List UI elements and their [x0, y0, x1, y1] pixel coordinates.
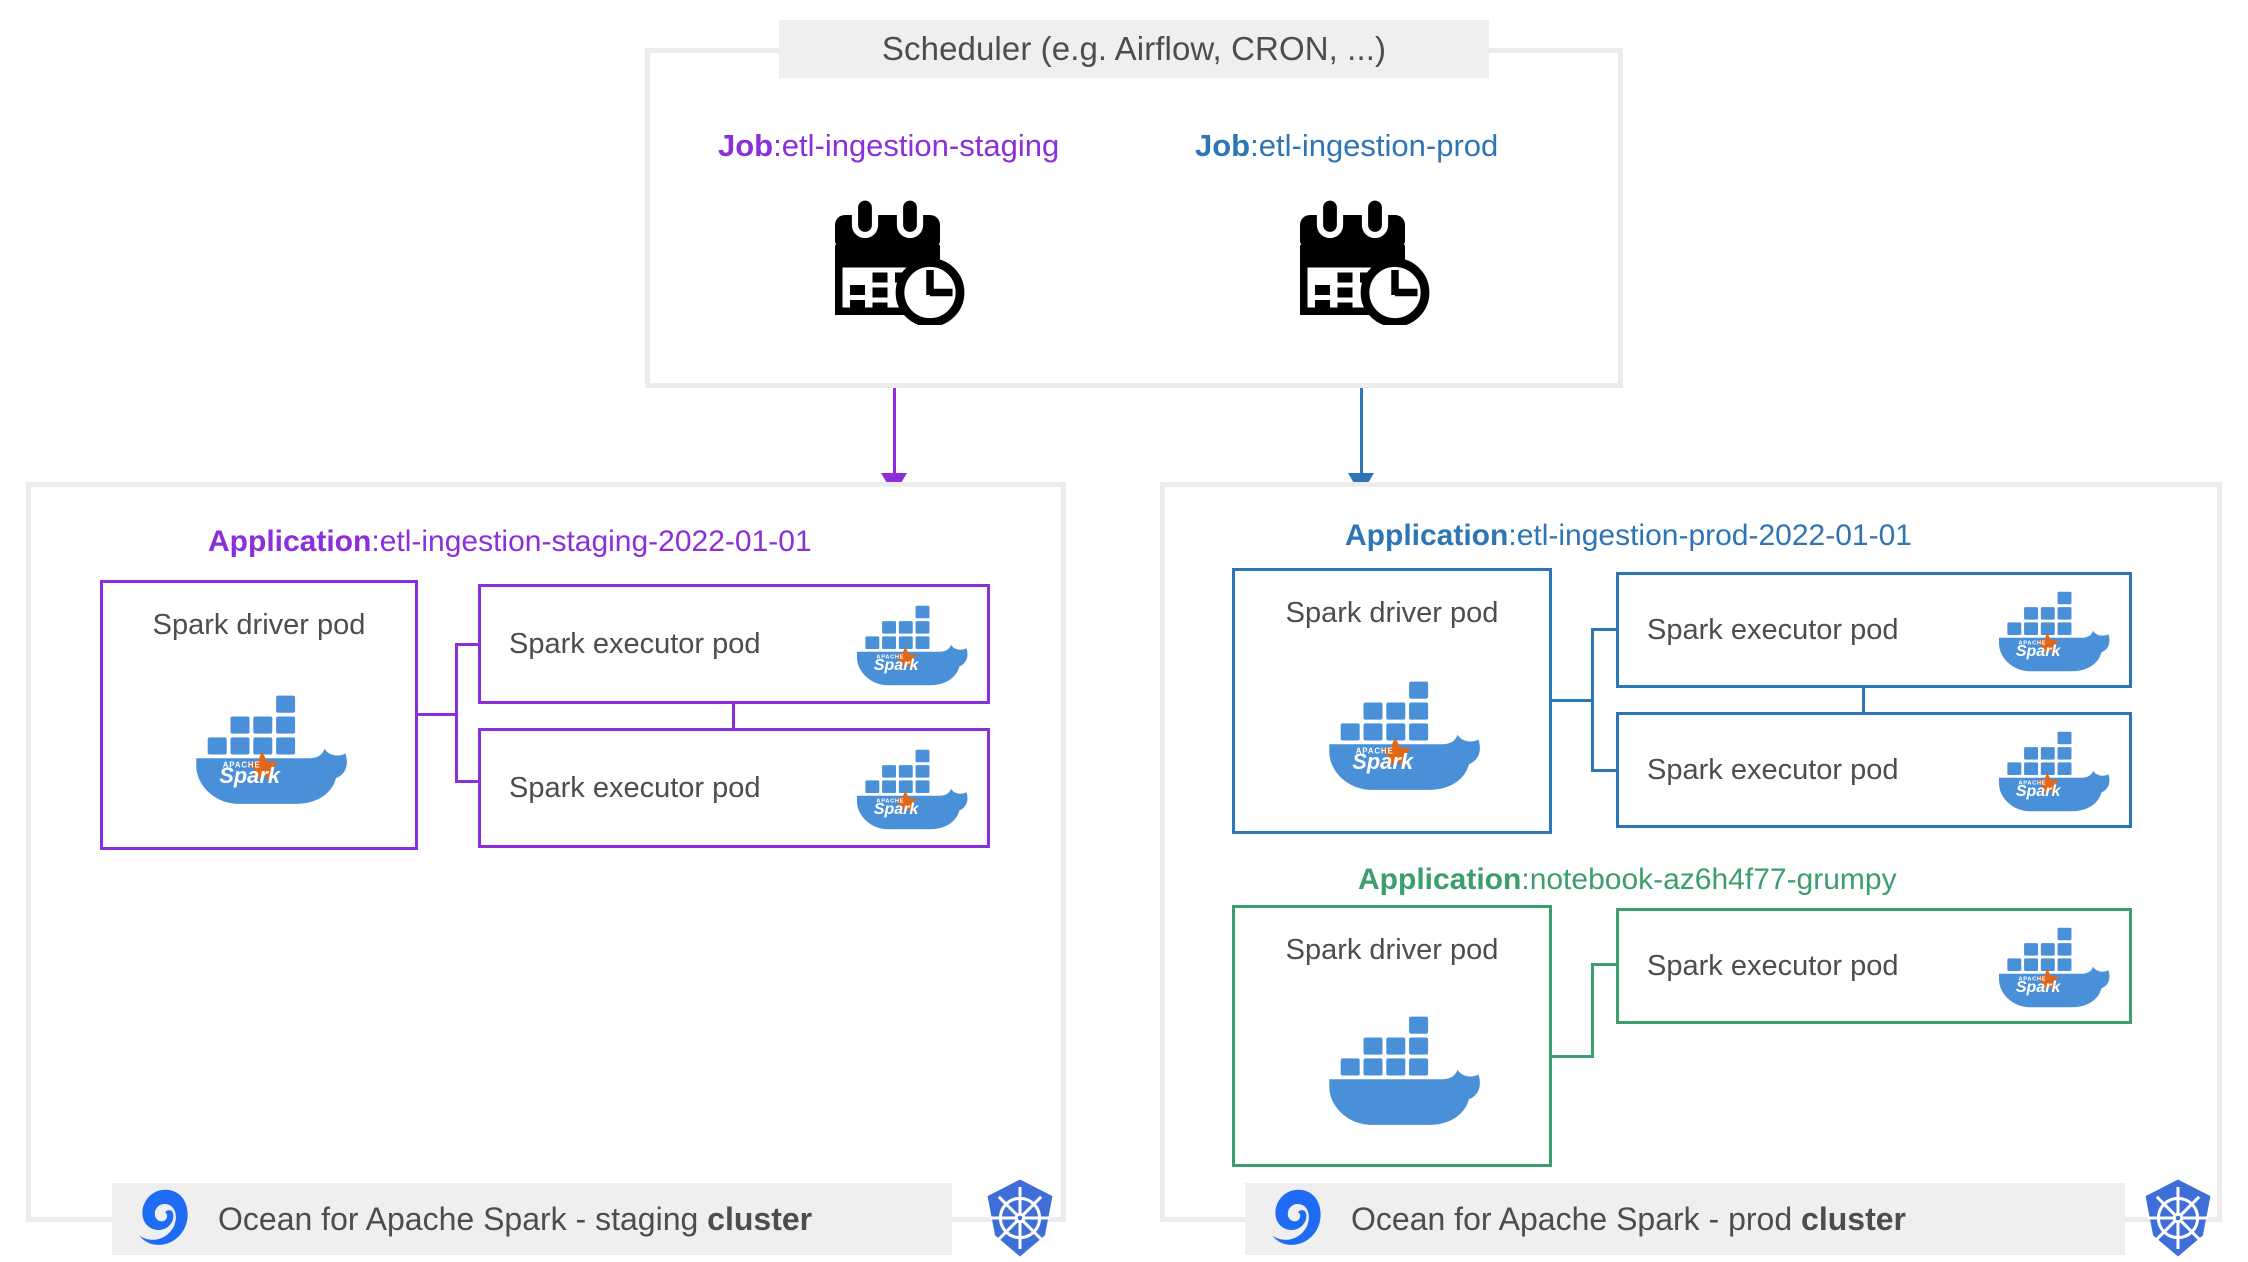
connector-prod-stem	[1552, 699, 1594, 702]
connector-notebook-spine	[1591, 963, 1594, 1058]
pod-label: Spark executor pod	[1647, 754, 1898, 787]
docker-spark-whale-icon	[833, 740, 973, 837]
spark-executor-pod[interactable]: Spark executor pod	[1616, 572, 2132, 688]
pod-label: Spark driver pod	[1286, 934, 1499, 967]
spark-executor-pod[interactable]: Spark executor pod	[1616, 712, 2132, 828]
job-separator: :	[773, 128, 782, 164]
connector-staging-stem	[418, 713, 458, 716]
calendar-clock-icon	[1290, 195, 1440, 325]
cluster-footer-bold: cluster	[707, 1201, 812, 1237]
application-separator: :	[1521, 863, 1529, 897]
connector-staging-branch-bottom	[455, 780, 481, 783]
arrow-staging-shaft	[893, 388, 896, 478]
application-title-notebook: Application : notebook-az6h4f77-grumpy	[1358, 863, 1897, 897]
spark-driver-pod[interactable]: Spark driver pod	[100, 580, 418, 850]
application-separator: :	[1508, 519, 1516, 553]
docker-spark-whale-icon	[1975, 722, 2115, 819]
cluster-footer-label: Ocean for Apache Spark - prod cluster	[1351, 1201, 1906, 1238]
spark-executor-pod[interactable]: Spark executor pod	[1616, 908, 2132, 1024]
docker-whale-icon	[1235, 967, 1549, 1164]
application-title-staging: Application : etl-ingestion-staging-2022…	[208, 525, 812, 559]
cluster-footer-label: Ocean for Apache Spark - staging cluster	[218, 1201, 812, 1238]
job-name: etl-ingestion-staging	[782, 128, 1059, 164]
job-label-staging: Job : etl-ingestion-staging	[718, 128, 1059, 164]
job-prefix: Job	[718, 128, 773, 164]
application-name: etl-ingestion-staging-2022-01-01	[380, 525, 812, 559]
connector-prod-branch-top	[1591, 628, 1619, 631]
scheduler-group	[645, 48, 1623, 388]
pod-label: Spark driver pod	[1286, 597, 1499, 630]
application-prefix: Application	[1345, 519, 1508, 553]
diagram-canvas: Scheduler (e.g. Airflow, CRON, ...) Job …	[0, 0, 2248, 1262]
connector-staging-spine	[455, 643, 458, 783]
docker-spark-whale-icon	[1975, 918, 2115, 1015]
docker-spark-whale-icon	[833, 596, 973, 693]
spark-driver-pod[interactable]: Spark driver pod	[1232, 905, 1552, 1167]
kubernetes-logo	[982, 1178, 1058, 1262]
cluster-footer-text: Ocean for Apache Spark - prod	[1351, 1201, 1801, 1237]
pod-label: Spark driver pod	[153, 609, 366, 642]
cluster-footer-prod: Ocean for Apache Spark - prod cluster	[1245, 1183, 2125, 1255]
connector-prod-spine	[1591, 628, 1594, 772]
connector-staging-exec-link	[732, 704, 735, 730]
application-title-prod: Application : etl-ingestion-prod-2022-01…	[1345, 519, 1912, 553]
cluster-footer-staging: Ocean for Apache Spark - staging cluster	[112, 1183, 952, 1255]
docker-spark-whale-icon	[1975, 582, 2115, 679]
application-separator: :	[371, 525, 379, 559]
scheduler-title: Scheduler (e.g. Airflow, CRON, ...)	[779, 20, 1489, 78]
cluster-footer-text: Ocean for Apache Spark - staging	[218, 1201, 707, 1237]
application-name: notebook-az6h4f77-grumpy	[1530, 863, 1897, 897]
pod-label: Spark executor pod	[509, 628, 760, 661]
docker-spark-whale-icon	[103, 642, 415, 847]
pod-label: Spark executor pod	[1647, 614, 1898, 647]
application-prefix: Application	[1358, 863, 1521, 897]
spark-executor-pod[interactable]: Spark executor pod	[478, 584, 990, 704]
kubernetes-logo	[2140, 1178, 2216, 1262]
job-prefix: Job	[1195, 128, 1250, 164]
application-name: etl-ingestion-prod-2022-01-01	[1517, 519, 1912, 553]
calendar-clock-icon	[825, 195, 975, 325]
connector-notebook-branch	[1591, 963, 1619, 966]
pod-label: Spark executor pod	[509, 772, 760, 805]
connector-notebook-stem	[1552, 1055, 1594, 1058]
job-name: etl-ingestion-prod	[1259, 128, 1499, 164]
connector-prod-exec-link	[1862, 688, 1865, 714]
spark-driver-pod[interactable]: Spark driver pod	[1232, 568, 1552, 834]
pod-label: Spark executor pod	[1647, 950, 1898, 983]
docker-spark-whale-icon	[1235, 630, 1549, 831]
spot-ocean-logo	[1263, 1186, 1325, 1253]
spark-executor-pod[interactable]: Spark executor pod	[478, 728, 990, 848]
arrow-prod-shaft	[1360, 388, 1363, 478]
cluster-footer-bold: cluster	[1801, 1201, 1906, 1237]
spot-ocean-logo	[130, 1186, 192, 1253]
job-separator: :	[1250, 128, 1259, 164]
connector-staging-branch-top	[455, 643, 481, 646]
connector-prod-branch-bottom	[1591, 769, 1619, 772]
job-label-prod: Job : etl-ingestion-prod	[1195, 128, 1498, 164]
application-prefix: Application	[208, 525, 371, 559]
